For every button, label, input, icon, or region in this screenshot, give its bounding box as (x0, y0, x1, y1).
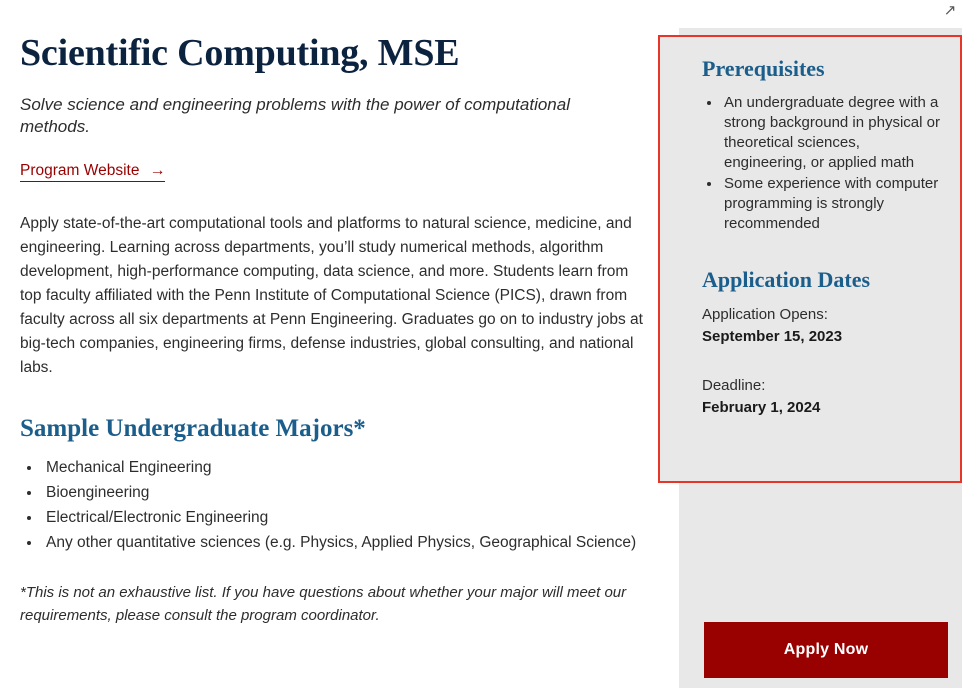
deadline-label: Deadline: (702, 375, 940, 397)
prerequisites-heading: Prerequisites (702, 55, 940, 83)
program-website-label: Program Website (20, 162, 139, 180)
application-opens-value: September 15, 2023 (702, 326, 940, 348)
deadline-value: February 1, 2024 (702, 397, 940, 419)
sample-majors-list: Mechanical Engineering Bioengineering El… (20, 456, 650, 555)
spacer (702, 348, 940, 369)
main-content: Scientific Computing, MSE Solve science … (20, 30, 650, 627)
prerequisites-and-dates-card: Prerequisites An undergraduate degree wi… (658, 35, 962, 483)
page-tagline: Solve science and engineering problems w… (20, 94, 600, 138)
sample-majors-heading: Sample Undergraduate Majors* (20, 414, 650, 444)
apply-now-button[interactable]: Apply Now (704, 622, 948, 678)
list-item: Mechanical Engineering (42, 456, 650, 480)
list-item: Electrical/Electronic Engineering (42, 506, 650, 530)
arrow-right-icon: → (149, 163, 165, 179)
deadline-block: Deadline: February 1, 2024 (702, 375, 940, 419)
application-opens-block: Application Opens: September 15, 2023 (702, 304, 940, 348)
list-item: Any other quantitative sciences (e.g. Ph… (42, 531, 650, 555)
page-title: Scientific Computing, MSE (20, 30, 650, 76)
majors-footnote: *This is not an exhaustive list. If you … (20, 581, 640, 627)
application-opens-label: Application Opens: (702, 304, 940, 326)
list-item: An undergraduate degree with a strong ba… (722, 93, 940, 173)
prerequisites-list: An undergraduate degree with a strong ba… (702, 93, 940, 234)
program-description: Apply state-of-the-art computational too… (20, 212, 650, 380)
application-dates-heading: Application Dates (702, 266, 940, 294)
page-root: ↗ Scientific Computing, MSE Solve scienc… (0, 0, 962, 688)
program-website-link[interactable]: Program Website → (20, 162, 165, 182)
chevron-up-right-icon[interactable]: ↗ (940, 0, 960, 22)
list-item: Bioengineering (42, 481, 650, 505)
list-item: Some experience with computer programmin… (722, 174, 940, 234)
